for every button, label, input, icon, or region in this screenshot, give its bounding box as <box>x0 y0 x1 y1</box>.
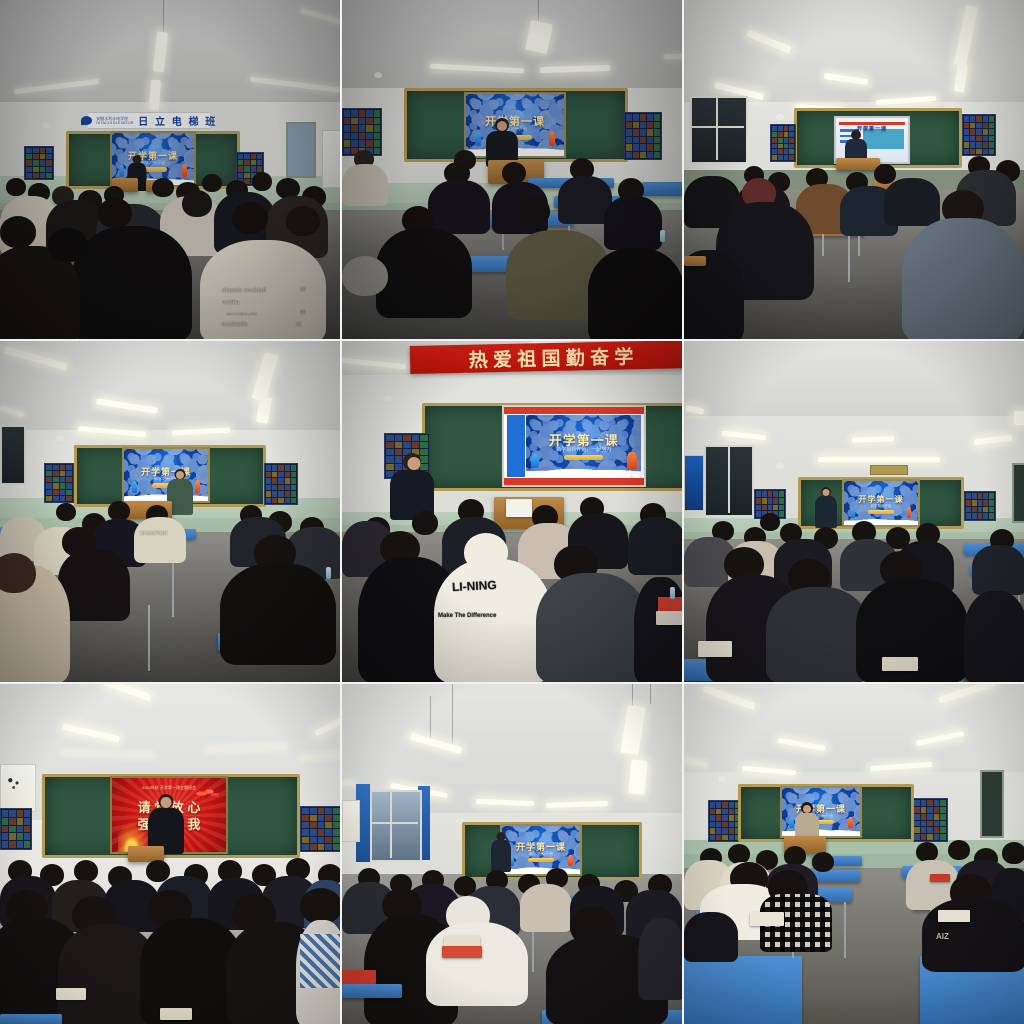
wall-chart-right <box>912 798 948 842</box>
plaid-jacket <box>300 934 340 988</box>
student-head <box>518 196 550 226</box>
student-body <box>428 180 490 234</box>
student-body <box>604 196 662 250</box>
security-camera-icon <box>718 776 726 782</box>
wall-chart-left <box>708 800 742 842</box>
textbook <box>342 970 376 984</box>
wall-chart-left <box>44 463 74 503</box>
wall-slogan-banner: 热 爱 祖 国 勤 奋 学 <box>410 341 682 374</box>
projection-screen: 开学第一课 新学期新开始 <box>500 824 582 876</box>
teacher <box>484 118 520 166</box>
collage-photo-3[interactable]: 开学第一课 <box>684 0 1024 339</box>
textbook <box>656 611 682 625</box>
water-bottle <box>660 230 665 242</box>
student-body <box>342 164 388 206</box>
classroom-scene-9: 开学第一课 新学期新开始 <box>684 684 1024 1024</box>
wall-chart-left <box>0 808 32 850</box>
projection-screen: 开学第一课 新学期新开始 <box>842 479 920 527</box>
slide-subtitle: 新学期新开始 <box>502 851 580 857</box>
tshirt-text-2: vodka <box>222 300 239 306</box>
tshirt-slogan-text: Make The Difference <box>438 613 496 619</box>
student-head <box>232 202 268 234</box>
classroom-scene-6: 开学第一课 新学期新开始 <box>684 341 1024 682</box>
window <box>690 96 748 164</box>
wall-poster-art <box>0 764 36 812</box>
ceiling-light <box>818 457 940 462</box>
collage-photo-1[interactable]: 安徽水利水电学校 HITACHI ELEVATOR 日 立 电 梯 班 开学第一… <box>0 0 340 339</box>
empty-desk-foreground <box>684 956 802 1024</box>
classroom-scene-4: 开学第一课 新学期新开始 <box>0 341 340 682</box>
collage-photo-6[interactable]: 开学第一课 新学期新开始 <box>684 341 1024 682</box>
photo-collage-grid: 安徽水利水电学校 HITACHI ELEVATOR 日 立 电 梯 班 开学第一… <box>0 0 1024 1024</box>
tshirt-text: CHAMPION <box>140 531 167 537</box>
student-head <box>152 178 174 197</box>
student-head <box>252 172 272 191</box>
student-foreground <box>902 218 1024 339</box>
textbook <box>930 874 950 882</box>
student-foreground-white <box>426 922 528 1006</box>
security-camera-icon <box>776 463 784 469</box>
classroom-scene-2: 开学第一课 新学期新开始 <box>342 0 682 339</box>
paper <box>750 912 784 926</box>
school-logo-icon <box>81 116 92 125</box>
slide-subtitle: 新学期新开始 <box>844 504 918 509</box>
door <box>286 122 316 178</box>
collage-photo-2[interactable]: 开学第一课 新学期新开始 <box>342 0 682 339</box>
student-head <box>0 216 36 248</box>
student-head <box>286 206 320 236</box>
ceiling <box>342 0 682 95</box>
classroom-scene-8: 开学第一课 新学期新开始 <box>342 684 682 1024</box>
tshirt-brand-text: LI-NING <box>452 578 497 594</box>
wall-slogan-text: 热 爱 祖 国 勤 奋 学 <box>468 342 633 372</box>
wall-chart-right <box>962 114 996 156</box>
wall-poster <box>342 800 360 842</box>
student-head <box>6 178 26 196</box>
window <box>370 790 422 862</box>
student-head <box>98 198 132 228</box>
wall-chart-left <box>770 124 796 162</box>
classroom-scene-5: 热 爱 祖 国 勤 奋 学 开学第一课 新学期新开始，一起努力 <box>342 341 682 682</box>
textbook <box>442 946 482 958</box>
wall-chart-right <box>300 806 340 852</box>
student-foreground <box>376 228 472 318</box>
tshirt-text-1: classic cocktail <box>222 288 266 294</box>
textbook <box>698 641 732 657</box>
student-head <box>48 228 88 262</box>
tshirt-text: AIZ <box>936 932 949 941</box>
tshirt-number-2: 99 <box>300 310 306 316</box>
student-foreground <box>536 573 648 682</box>
light-pendant <box>538 0 539 22</box>
paper <box>938 910 970 922</box>
ceiling-light <box>664 54 682 59</box>
teacher-face <box>497 121 507 131</box>
student-desk <box>642 182 682 196</box>
paper <box>506 499 532 517</box>
wall-chart-left <box>24 146 54 180</box>
security-camera-icon <box>384 395 392 401</box>
student-foreground <box>72 226 192 339</box>
teacher <box>390 453 434 517</box>
class-banner-text: 日 立 电 梯 班 <box>138 113 217 128</box>
class-banner: 安徽水利水电学校 HITACHI ELEVATOR 日 立 电 梯 班 <box>88 112 210 129</box>
tshirt-number-3: 21 <box>296 322 302 328</box>
wall-plaque <box>870 465 908 475</box>
slide-cloud <box>500 863 582 875</box>
tshirt-text-4: cocktails <box>222 322 248 328</box>
classroom-scene-3: 开学第一课 <box>684 0 1024 339</box>
teacher <box>148 794 184 852</box>
wall-chart-right <box>964 491 996 521</box>
ceiling-light <box>149 80 161 111</box>
wall-chart-left <box>342 108 382 156</box>
ceiling <box>0 341 340 443</box>
classroom-scene-1: 安徽水利水电学校 HITACHI ELEVATOR 日 立 电 梯 班 开学第一… <box>0 0 340 339</box>
student-foreground <box>588 248 682 339</box>
slide-subtitle: 新学期新开始，一起努力 <box>526 446 641 453</box>
collage-photo-8[interactable]: 开学第一课 新学期新开始 <box>342 684 682 1024</box>
projection-screen: 开学第一课 新学期新开始 <box>780 786 862 838</box>
student-head <box>502 162 526 184</box>
door <box>980 770 1004 838</box>
security-camera-icon <box>776 114 784 120</box>
security-camera-icon <box>42 122 50 128</box>
slide-ribbon <box>868 510 893 514</box>
school-logo-caption: 安徽水利水电学校 HITACHI ELEVATOR <box>96 117 134 125</box>
student-head <box>202 174 222 192</box>
slide-ribbon <box>528 858 555 862</box>
tshirt-text-3: mint mojito pink <box>226 311 257 316</box>
wall-chart-right <box>264 463 298 505</box>
slide-subtitle: 新学期新开始 <box>112 160 194 166</box>
security-camera-icon <box>374 72 382 78</box>
classroom-scene-7: 2024年秋 开学第一课主题班会 请 党 放 心 强 国 有 我 <box>0 684 340 1024</box>
teacher <box>490 832 512 872</box>
wall-poster <box>684 455 704 511</box>
window <box>0 425 26 485</box>
security-camera-icon <box>56 435 64 441</box>
projection-screen: 开学第一课 新学期新开始，一起努力 <box>502 405 646 487</box>
student-head <box>342 256 388 296</box>
textbook <box>882 657 918 671</box>
teacher <box>814 487 838 527</box>
collage-photo-5[interactable]: 热 爱 祖 国 勤 奋 学 开学第一课 新学期新开始，一起努力 <box>342 341 682 682</box>
slide-birds <box>194 787 219 800</box>
student-head <box>182 190 212 217</box>
wall-poster <box>322 130 340 188</box>
podium <box>836 158 880 170</box>
wall-chart-right <box>624 112 662 160</box>
collage-photo-7[interactable]: 2024年秋 开学第一课主题班会 请 党 放 心 强 国 有 我 <box>0 684 340 1024</box>
light-pendant <box>163 0 164 36</box>
tshirt-number-1: 25 <box>300 287 306 293</box>
door <box>1012 463 1024 523</box>
collage-photo-4[interactable]: 开学第一课 新学期新开始 <box>0 341 340 682</box>
collage-photo-9[interactable]: 开学第一课 新学期新开始 <box>684 684 1024 1024</box>
